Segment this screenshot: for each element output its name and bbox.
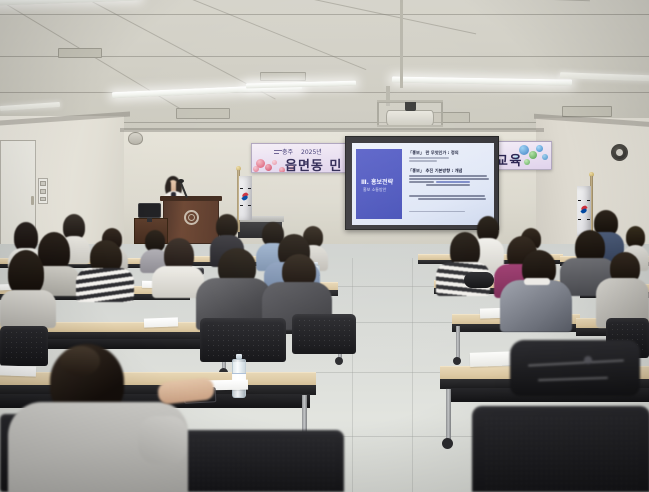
- chair-foreground: [472, 406, 649, 492]
- switch-button[interactable]: [40, 197, 46, 201]
- seal-inner-ring: [188, 214, 195, 221]
- slide-heading-1: 「홍보」 란 무엇인가 : 정의: [408, 150, 459, 156]
- chair: [292, 314, 356, 354]
- blossom-decor: [272, 160, 277, 165]
- shirt-sleeve: [138, 416, 188, 464]
- projected-slide: Ⅲ. 홍보전략 홍보 소통방안 「홍보」 란 무엇인가 : 정의 「홍보」 추진…: [352, 143, 494, 225]
- table-leg: [446, 389, 451, 441]
- door-handle-icon[interactable]: [31, 196, 34, 205]
- attendee: [596, 252, 649, 324]
- taegeuk-blue: [241, 195, 248, 202]
- trigram-bar: [248, 205, 251, 206]
- trigram-bar: [587, 200, 590, 201]
- clock-face: [616, 149, 623, 156]
- blossom-decor: [253, 166, 259, 172]
- bubble-decor: [542, 154, 548, 160]
- black-handbag: [464, 272, 494, 288]
- attendee: [500, 250, 572, 328]
- shirt-collar: [524, 278, 550, 285]
- trigram-bar: [240, 205, 243, 206]
- wall-clock: [611, 144, 628, 161]
- bubble-decor: [524, 159, 530, 165]
- banner-title: 읍면동 민: [285, 155, 342, 173]
- trigram-bar: [578, 219, 581, 220]
- ceiling-projector: [386, 110, 434, 126]
- ceiling-speaker: [128, 132, 143, 145]
- gray-dress-shirt: [500, 280, 572, 332]
- attendee: [0, 250, 56, 324]
- city-emblem-seal: [184, 210, 199, 225]
- projector-bracket: [377, 125, 443, 127]
- ceiling-wall-shadow: [120, 128, 544, 132]
- bubble-decor: [529, 151, 537, 159]
- projector-bracket: [377, 100, 443, 102]
- switch-button[interactable]: [40, 189, 46, 194]
- trigram-bar: [240, 188, 243, 189]
- slide-heading-2: 「홍보」 추진 기본방향 : 개념: [408, 168, 462, 174]
- table-leg: [456, 326, 460, 360]
- blossom-decor: [265, 164, 272, 171]
- water-bottle: [232, 354, 246, 398]
- attendee: [76, 240, 134, 300]
- slide-sidebar: Ⅲ. 홍보전략 홍보 소통방안: [356, 149, 402, 219]
- handout-paper: [144, 317, 178, 327]
- trigram-bar: [248, 188, 251, 189]
- podium-top: [160, 196, 222, 201]
- table-caster: [453, 357, 461, 365]
- microphone-head: [178, 179, 184, 183]
- monitor-stand: [147, 218, 152, 222]
- black-backpack: [510, 340, 640, 396]
- slide-sidebar-label: Ⅲ. 홍보전략: [361, 177, 393, 186]
- attendee-foreground: [8, 344, 188, 492]
- trigram-bar: [578, 200, 581, 201]
- projector-mount-rod: [400, 0, 403, 88]
- attendee: [196, 248, 272, 326]
- table-caster: [442, 438, 453, 449]
- podium-monitor: [138, 203, 161, 218]
- bubble-decor: [536, 145, 543, 152]
- switch-button[interactable]: [40, 181, 46, 186]
- slide-sidebar-sub: 홍보 소통방안: [363, 187, 386, 193]
- table-caster: [335, 357, 343, 365]
- hair-bun: [60, 346, 100, 376]
- striped-shirt: [76, 268, 134, 302]
- event-banner: 충주 2025년 읍면동 민: [251, 143, 353, 173]
- seminar-room-photo: 충주 2025년 읍면동 민 직무교육 Ⅲ. 홍보전략 홍보 소통방안 「홍보」…: [0, 0, 649, 492]
